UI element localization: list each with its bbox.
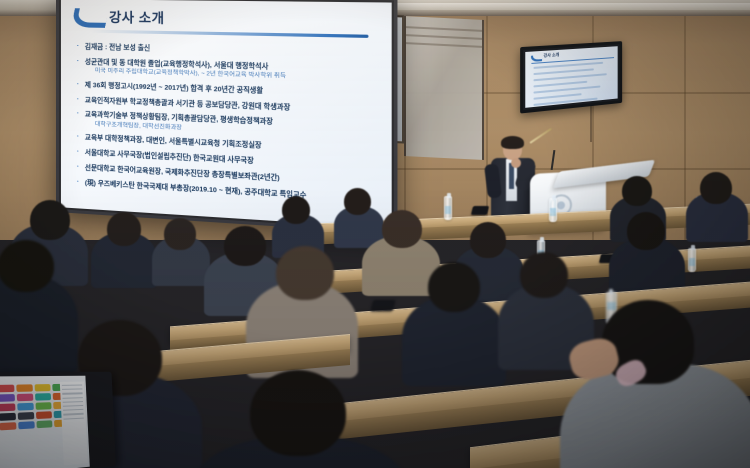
app-icon: [35, 384, 51, 391]
slide-bullet-list: 김재금 : 전남 보성 출신 성균관대 및 동 대학원 졸업(교육행정학석사),…: [73, 43, 380, 204]
presenter-hair: [501, 136, 524, 149]
app-icon: [35, 402, 51, 410]
wall-monitor: 강사 소개: [520, 41, 622, 113]
lecture-hall-photo: 강사 소개 김재금 : 전남 보성 출신 성균관대 및 동 대학원 졸업(교육행…: [0, 0, 750, 468]
title-underline: [91, 30, 369, 38]
monitor-text-lines: [533, 61, 614, 108]
water-bottle: [688, 248, 696, 272]
slide-bullet: 김재금 : 전남 보성 출신: [77, 43, 380, 59]
tablet-screen[interactable]: [0, 376, 90, 468]
app-icon: [17, 403, 34, 411]
water-bottle: [444, 196, 452, 220]
app-icon: [0, 385, 15, 393]
app-icon: [0, 394, 15, 402]
presentation-slide: 강사 소개 김재금 : 전남 보성 출신 성균관대 및 동 대학원 졸업(교육행…: [61, 0, 392, 228]
phone-on-desk: [471, 206, 489, 215]
slide-title: 강사 소개: [109, 7, 165, 27]
app-icon: [0, 413, 16, 421]
app-icon: [0, 422, 16, 430]
presenter-hand: [511, 158, 521, 168]
slide-bullet-line2: 미국 미주리 주립대학교(교육정책학박사), ~ 2년 한국어교육 박사학위 취…: [85, 68, 380, 84]
wall-monitor-screen: 강사 소개: [525, 46, 617, 108]
app-icon: [0, 403, 16, 411]
app-icon: [16, 384, 33, 392]
phone-on-desk: [371, 300, 396, 311]
monitor-swoosh-icon: [530, 55, 543, 62]
slide-bullet: 성균관대 및 동 대학원 졸업(교육행정학석사), 서울대 행정학석사미국 미주…: [77, 58, 380, 84]
app-icon: [35, 393, 51, 401]
tablet-side-panel[interactable]: [60, 382, 88, 466]
app-icon: [36, 420, 52, 428]
app-icon: [17, 394, 34, 402]
door[interactable]: [404, 16, 484, 160]
water-bottle: [549, 198, 557, 222]
app-icon: [18, 421, 35, 429]
app-icon: [36, 411, 52, 419]
monitor-title: 강사 소개: [544, 52, 560, 59]
tablet-device[interactable]: [0, 372, 116, 468]
app-icon: [18, 412, 35, 420]
title-swoosh-icon: [71, 8, 109, 28]
